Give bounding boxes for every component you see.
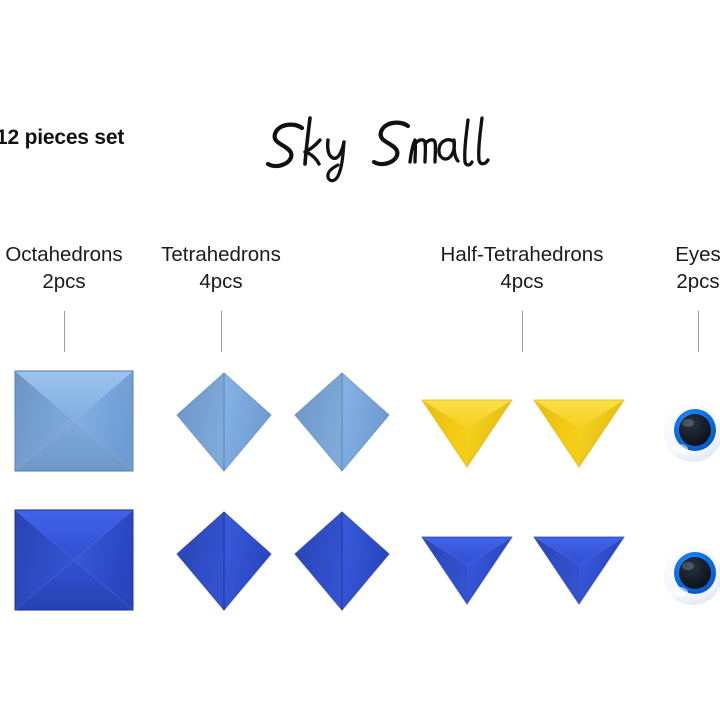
octahedron-light xyxy=(13,369,135,473)
column-qty-tetrahedrons: 4pcs xyxy=(93,268,349,295)
column-label-tetrahedrons: Tetrahedrons 4pcs xyxy=(93,241,349,295)
column-title-tetrahedrons: Tetrahedrons xyxy=(93,241,349,268)
eye-bottom xyxy=(662,545,720,607)
half-tetrahedron-blue-2 xyxy=(531,529,627,607)
eye-top xyxy=(662,402,720,464)
pieces-set-label: 12 pieces set xyxy=(0,126,124,150)
tetrahedron-dark-1 xyxy=(174,509,274,613)
column-label-eyes: Eyes 2pcs xyxy=(570,241,720,295)
brand-script-logo xyxy=(258,112,498,184)
half-tetrahedron-blue-1 xyxy=(419,529,515,607)
octahedron-dark xyxy=(13,508,135,612)
product-image-canvas: 12 pieces set xyxy=(0,0,720,720)
half-tetrahedron-yellow-1 xyxy=(419,392,515,470)
tetrahedron-light-2 xyxy=(292,370,392,474)
leader-line-eyes xyxy=(698,311,699,352)
column-title-eyes: Eyes xyxy=(570,241,720,268)
tetrahedron-light-1 xyxy=(174,370,274,474)
leader-line-tetrahedrons xyxy=(221,311,222,352)
leader-line-half-tetrahedrons xyxy=(522,311,523,352)
column-qty-eyes: 2pcs xyxy=(570,268,720,295)
half-tetrahedron-yellow-2 xyxy=(531,392,627,470)
leader-line-octahedrons xyxy=(64,311,65,352)
tetrahedron-dark-2 xyxy=(292,509,392,613)
